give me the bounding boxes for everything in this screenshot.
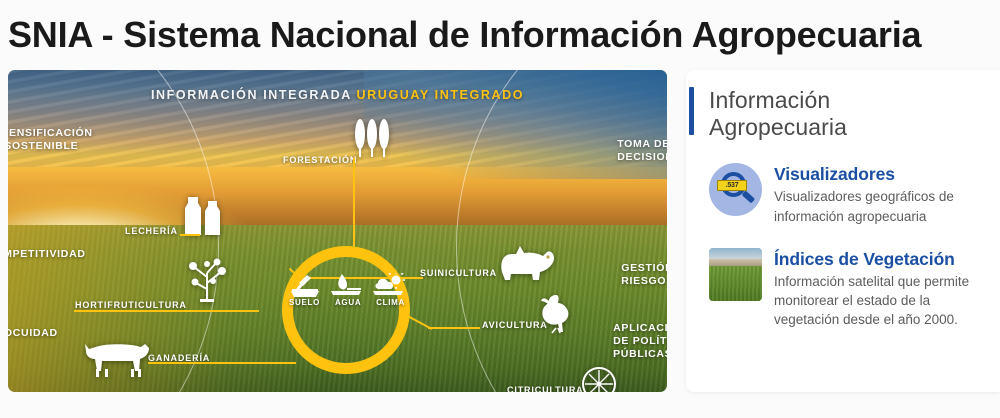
hero-infographic-image[interactable]: INFORMACIÓN INTEGRADA URUGUAY INTEGRADO … xyxy=(8,70,667,392)
corner-label-competitividad: COMPETITIVIDAD xyxy=(8,248,86,261)
corner-label-line2: SOSTENIBLE xyxy=(8,140,93,153)
milk-bottle-icon xyxy=(180,197,228,237)
magnifier-handle xyxy=(742,191,755,204)
list-item-indices-de-vegetacion[interactable]: Índices de Vegetación Información sateli… xyxy=(686,248,986,330)
corner-label-line1: INTENSIFICACIÓN xyxy=(8,127,93,140)
corner-label-gestion-de-riesgos: GESTIÓN DE RIESGOS xyxy=(621,262,667,288)
list-item-body: Índices de Vegetación Información sateli… xyxy=(774,248,986,330)
cow-icon xyxy=(83,333,155,381)
citrus-slice-icon xyxy=(581,366,617,392)
link-indices-de-vegetacion[interactable]: Índices de Vegetación xyxy=(774,249,986,269)
desc-visualizadores: Visualizadores geográficos de informació… xyxy=(774,187,986,225)
corner-label-line2: RIESGOS xyxy=(621,275,667,288)
pig-icon xyxy=(498,242,556,282)
climate-icon xyxy=(371,273,405,299)
soil-icon xyxy=(289,273,321,299)
corner-label-toma-de-decisiones: TOMA DE DECISIONES xyxy=(617,138,667,164)
leader-line-ganaderia xyxy=(148,362,296,364)
hero-headline: INFORMACIÓN INTEGRADA URUGUAY INTEGRADO xyxy=(8,88,667,102)
leader-line-lecheria xyxy=(180,234,200,236)
list-item-visualizadores[interactable]: .537 Visualizadores Visualizadores geogr… xyxy=(686,163,986,225)
core-labels-row: SUELO AGUA CLIMA xyxy=(289,298,405,307)
card-accent-bar xyxy=(689,87,694,135)
main-layout: INFORMACIÓN INTEGRADA URUGUAY INTEGRADO … xyxy=(0,57,1000,392)
leader-line-hortifruticultura xyxy=(74,310,259,312)
magnifier-icon: .537 xyxy=(709,163,762,216)
corner-label-line2: DECISIONES xyxy=(617,151,667,164)
card-title-line1: Información xyxy=(709,87,830,113)
list-item-body: Visualizadores Visualizadores geográfico… xyxy=(774,163,986,225)
page-title: SNIA - Sistema Nacional de Información A… xyxy=(0,0,1000,57)
core-ring xyxy=(282,246,410,374)
corner-label-aplicacion-politicas-publicas: APLICACIÓN DE POLÍTICAS PÚBLICAS xyxy=(613,322,667,361)
hero-headline-highlight: URUGUAY INTEGRADO xyxy=(357,88,525,102)
corner-label-line3: PÚBLICAS xyxy=(613,348,667,361)
card-title: Información Agropecuaria xyxy=(686,87,986,141)
leader-line-forestacion xyxy=(353,158,355,250)
vegetation-thumbnail xyxy=(709,248,762,301)
corner-label-line1: GESTIÓN DE xyxy=(621,262,667,275)
core-label-clima: CLIMA xyxy=(376,298,405,307)
informacion-agropecuaria-card: Información Agropecuaria .537 Visualizad… xyxy=(686,70,1000,392)
fruit-plant-icon xyxy=(180,255,234,303)
thumbnail-sky xyxy=(709,248,762,260)
corner-label-intensificacion-sostenible: INTENSIFICACIÓN SOSTENIBLE xyxy=(8,127,93,153)
sector-label-lecheria: LECHERÍA xyxy=(125,226,178,236)
leader-line-avicultura xyxy=(428,327,480,329)
hero-headline-plain: INFORMACIÓN INTEGRADA xyxy=(151,88,352,102)
corner-label-line1: APLICACIÓN xyxy=(613,322,667,335)
core-icons-row xyxy=(289,273,405,299)
sector-label-forestacion: FORESTACIÓN xyxy=(283,155,357,165)
chicken-icon xyxy=(536,292,576,334)
magnifier-value-badge: .537 xyxy=(717,180,747,191)
water-icon xyxy=(329,273,363,299)
sector-label-suinicultura: SUINICULTURA xyxy=(420,268,497,278)
sector-label-citricultura: CITRICULTURA xyxy=(507,385,584,392)
tree-icon xyxy=(353,117,391,159)
core-label-suelo: SUELO xyxy=(289,298,320,307)
core-label-agua: AGUA xyxy=(335,298,361,307)
card-title-line2: Agropecuaria xyxy=(709,114,847,140)
link-visualizadores[interactable]: Visualizadores xyxy=(774,164,986,184)
thumbnail-grass xyxy=(709,266,762,301)
desc-indices-de-vegetacion: Información satelital que permite monito… xyxy=(774,272,986,329)
corner-label-inocuidad: INOCUIDAD xyxy=(8,327,58,340)
corner-label-line2: DE POLÍTICAS xyxy=(613,335,667,348)
sector-label-hortifruticultura: HORTIFRUTICULTURA xyxy=(75,300,187,310)
corner-label-line1: TOMA DE xyxy=(617,138,667,151)
